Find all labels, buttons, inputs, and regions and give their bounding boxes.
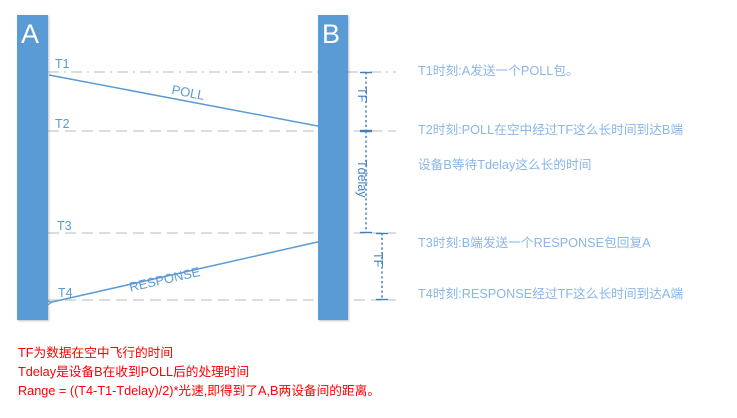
arrow-poll bbox=[49, 75, 344, 131]
bracket-label-tf-bottom: TF bbox=[372, 252, 385, 267]
lifeline-label-a: A bbox=[21, 21, 39, 48]
diagram-canvas: A B T1 T2 T3 T4 POLL RESPONSE TF Tdelay … bbox=[0, 0, 737, 418]
time-label-t2: T2 bbox=[55, 118, 70, 131]
annotation-t1: T1时刻:A发送一个POLL包。 bbox=[418, 65, 579, 79]
legend-block: TF为数据在空中飞行的时间 Tdelay是设备B在收到POLL后的处理时间 Ra… bbox=[18, 344, 380, 401]
annotation-tdelay: 设备B等待Tdelay这么长的时间 bbox=[418, 159, 591, 173]
legend-line-tdelay: Tdelay是设备B在收到POLL后的处理时间 bbox=[18, 363, 380, 382]
lifeline-label-b: B bbox=[322, 21, 340, 48]
annotation-t4: T4时刻:RESPONSE经过TF这么长时间到达A端 bbox=[418, 288, 683, 302]
bracket-label-tdelay: Tdelay bbox=[356, 160, 369, 198]
time-label-t1: T1 bbox=[55, 58, 70, 71]
annotation-t3: T3时刻:B端发送一个RESPONSE包回复A bbox=[418, 237, 651, 251]
lifeline-bar-a bbox=[17, 15, 48, 320]
bracket-label-tf-top: TF bbox=[356, 87, 369, 102]
time-label-t4: T4 bbox=[58, 287, 73, 300]
annotation-t2: T2时刻:POLL在空中经过TF这么长时间到达B端 bbox=[418, 124, 683, 138]
legend-line-tf: TF为数据在空中飞行的时间 bbox=[18, 344, 380, 363]
time-label-t3: T3 bbox=[57, 220, 72, 233]
legend-line-range: Range = ((T4-T1-Tdelay)/2)*光速,即得到了A,B两设备… bbox=[18, 382, 380, 401]
lifeline-bar-b bbox=[318, 15, 348, 320]
